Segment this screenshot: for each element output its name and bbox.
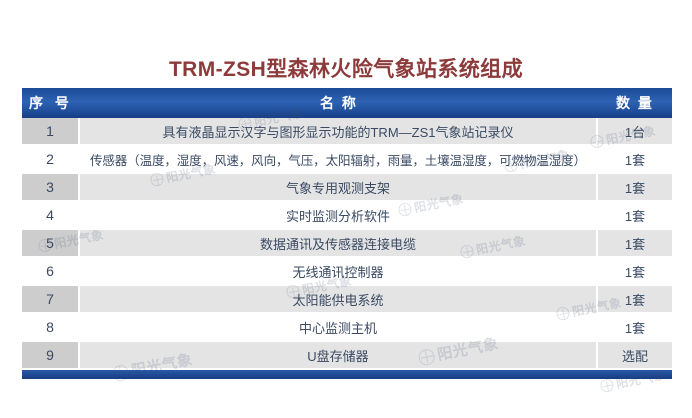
table-row: 3气象专用观测支架1套 <box>22 174 672 202</box>
table-row: 9U盘存储器选配 <box>22 342 672 370</box>
table-header-cell-qty: 数 量 <box>598 88 672 118</box>
table-cell-name: 数据通讯及传感器连接电缆 <box>80 230 598 256</box>
table-cell-qty: 1套 <box>598 314 672 340</box>
table-row: 5数据通讯及传感器连接电缆1套 <box>22 230 672 258</box>
table-cell-qty: 1套 <box>598 146 672 172</box>
row-number: 8 <box>46 319 54 335</box>
table-row: 6无线通讯控制器1套 <box>22 258 672 286</box>
row-item-name: 无线通讯控制器 <box>292 262 383 281</box>
table-cell-qty: 1套 <box>598 286 672 312</box>
table-header-cell-name: 名 称 <box>80 88 598 118</box>
row-number: 3 <box>46 179 54 195</box>
table-footer-bar <box>22 370 672 379</box>
row-quantity: 1套 <box>625 150 645 169</box>
system-composition-table: 序 号 名 称 数 量 1具有液晶显示汉字与图形显示功能的TRM—ZS1气象站记… <box>22 88 672 379</box>
row-number: 2 <box>46 151 54 167</box>
top-dotted-divider <box>34 32 316 34</box>
table-cell-no: 5 <box>22 230 80 256</box>
column-label-no: 序 号 <box>29 93 73 113</box>
table-row: 4实时监测分析软件1套 <box>22 202 672 230</box>
row-quantity: 1套 <box>625 262 645 281</box>
row-item-name: 具有液晶显示汉字与图形显示功能的TRM—ZS1气象站记录仪 <box>162 122 513 141</box>
table-cell-qty: 1套 <box>598 202 672 228</box>
row-quantity: 1套 <box>625 178 645 197</box>
row-number: 5 <box>46 235 54 251</box>
table-cell-no: 9 <box>22 342 80 368</box>
table-body: 1具有液晶显示汉字与图形显示功能的TRM—ZS1气象站记录仪1台2传感器（温度，… <box>22 118 672 370</box>
row-item-name: 数据通讯及传感器连接电缆 <box>260 234 416 253</box>
table-header-cell-no: 序 号 <box>22 88 80 118</box>
table-header-row: 序 号 名 称 数 量 <box>22 88 672 118</box>
table-cell-name: 中心监测主机 <box>80 314 598 340</box>
table-cell-name: 具有液晶显示汉字与图形显示功能的TRM—ZS1气象站记录仪 <box>80 118 598 144</box>
table-cell-no: 7 <box>22 286 80 312</box>
table-cell-no: 2 <box>22 146 80 172</box>
table-cell-no: 8 <box>22 314 80 340</box>
row-quantity: 1套 <box>625 234 645 253</box>
table-cell-name: 太阳能供电系统 <box>80 286 598 312</box>
globe-crosshair-icon <box>599 378 614 393</box>
table-cell-no: 3 <box>22 174 80 200</box>
column-label-name: 名 称 <box>320 93 358 113</box>
row-quantity: 1台 <box>625 122 645 141</box>
table-cell-name: 传感器（温度，湿度，风速，风向，气压，太阳辐射，雨量，土壤温湿度，可燃物温湿度） <box>80 146 598 172</box>
column-label-qty: 数 量 <box>616 93 654 113</box>
page-title: TRM-ZSH型森林火险气象站系统组成 <box>0 53 692 83</box>
row-item-name: 实时监测分析软件 <box>286 206 390 225</box>
row-number: 6 <box>46 263 54 279</box>
row-number: 9 <box>46 347 54 363</box>
row-item-name: U盘存储器 <box>307 346 368 365</box>
row-quantity: 1套 <box>625 290 645 309</box>
table-cell-no: 4 <box>22 202 80 228</box>
table-cell-no: 6 <box>22 258 80 284</box>
table-cell-name: U盘存储器 <box>80 342 598 368</box>
row-quantity: 选配 <box>622 346 648 365</box>
row-item-name: 传感器（温度，湿度，风速，风向，气压，太阳辐射，雨量，土壤温湿度，可燃物温湿度） <box>90 150 586 169</box>
table-cell-qty: 选配 <box>598 342 672 368</box>
row-item-name: 气象专用观测支架 <box>286 178 390 197</box>
table-cell-name: 无线通讯控制器 <box>80 258 598 284</box>
row-item-name: 太阳能供电系统 <box>292 290 383 309</box>
table-row: 8中心监测主机1套 <box>22 314 672 342</box>
row-number: 7 <box>46 291 54 307</box>
table-cell-name: 气象专用观测支架 <box>80 174 598 200</box>
row-quantity: 1套 <box>625 318 645 337</box>
row-number: 1 <box>46 123 54 139</box>
table-row: 1具有液晶显示汉字与图形显示功能的TRM—ZS1气象站记录仪1台 <box>22 118 672 146</box>
table-cell-name: 实时监测分析软件 <box>80 202 598 228</box>
table-cell-qty: 1套 <box>598 174 672 200</box>
table-row: 7太阳能供电系统1套 <box>22 286 672 314</box>
row-number: 4 <box>46 207 54 223</box>
table-cell-qty: 1台 <box>598 118 672 144</box>
table-cell-qty: 1套 <box>598 230 672 256</box>
table-cell-qty: 1套 <box>598 258 672 284</box>
row-quantity: 1套 <box>625 206 645 225</box>
row-item-name: 中心监测主机 <box>299 318 377 337</box>
table-row: 2传感器（温度，湿度，风速，风向，气压，太阳辐射，雨量，土壤温湿度，可燃物温湿度… <box>22 146 672 174</box>
table-cell-no: 1 <box>22 118 80 144</box>
